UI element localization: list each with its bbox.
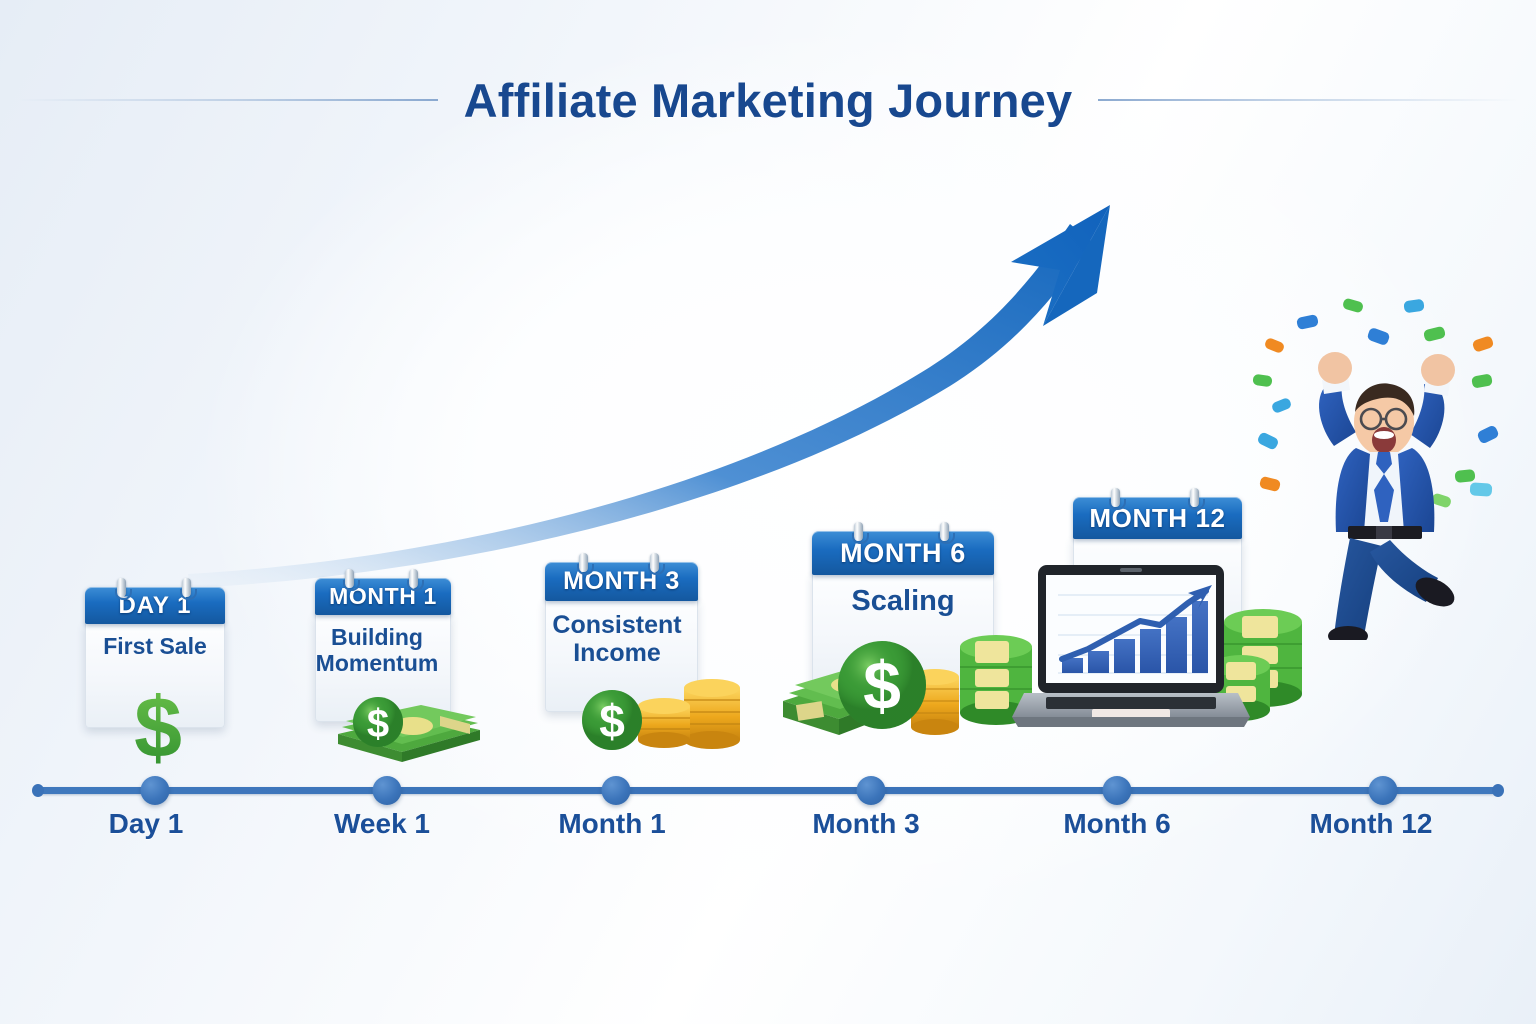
page-title-row: Affiliate Marketing Journey [0,60,1536,140]
timeline-dot-week-1[interactable] [373,776,402,805]
calendar-rings [812,522,994,542]
svg-text:$: $ [599,695,625,747]
svg-text:$: $ [367,702,389,746]
calendar-rings [1073,488,1242,508]
ring-icon [1190,488,1199,507]
ring-icon [345,569,354,588]
title-divider-right [1098,99,1518,101]
timeline-dot-day-1[interactable] [141,776,170,805]
timeline: Day 1 Week 1 Month 1 Month 3 Month 6 Mon… [0,760,1536,890]
title-divider-left [18,99,438,101]
calendar-rings [545,553,698,573]
timeline-label-week-1: Week 1 [334,808,430,840]
svg-text:$: $ [134,683,182,773]
confetti-piece [1252,374,1272,388]
coin-stacks-icon: $ [580,648,760,758]
caption-text: Building Momentum [304,625,450,677]
svg-text:$: $ [863,648,901,724]
page-title: Affiliate Marketing Journey [464,73,1073,128]
timeline-label-day-1: Day 1 [109,808,184,840]
timeline-label-month-1: Month 1 [558,808,665,840]
confetti-piece [1342,297,1364,313]
timeline-axis [38,787,1500,794]
infographic-canvas: Affiliate Marketing Journey DAY 1 F [0,0,1536,1024]
timeline-label-month-12: Month 12 [1310,808,1433,840]
calendar-rings [315,569,451,589]
ring-icon [182,578,191,597]
money-pile-icon: $ [775,617,1040,757]
timeline-dot-month-3[interactable] [857,776,886,805]
timeline-label-month-3: Month 3 [812,808,919,840]
timeline-label-month-6: Month 6 [1063,808,1170,840]
laptop-chart-icon [1012,559,1250,743]
timeline-dot-month-12[interactable] [1369,776,1398,805]
timeline-dot-month-1[interactable] [602,776,631,805]
jumping-businessman-figure [1278,340,1498,640]
ring-icon [650,553,659,572]
confetti-piece [1296,314,1319,330]
calendar-rings [85,578,225,598]
timeline-cap-left [32,784,44,797]
ring-icon [854,522,863,541]
ring-icon [579,553,588,572]
ring-icon [940,522,949,541]
cash-stack-icon: $ [320,672,495,764]
confetti-piece [1256,431,1279,451]
ring-icon [1111,488,1120,507]
timeline-cap-right [1492,784,1504,797]
ring-icon [117,578,126,597]
timeline-dot-month-6[interactable] [1103,776,1132,805]
ring-icon [409,569,418,588]
dollar-sign-icon: $ [122,683,194,773]
confetti-piece [1403,299,1424,314]
